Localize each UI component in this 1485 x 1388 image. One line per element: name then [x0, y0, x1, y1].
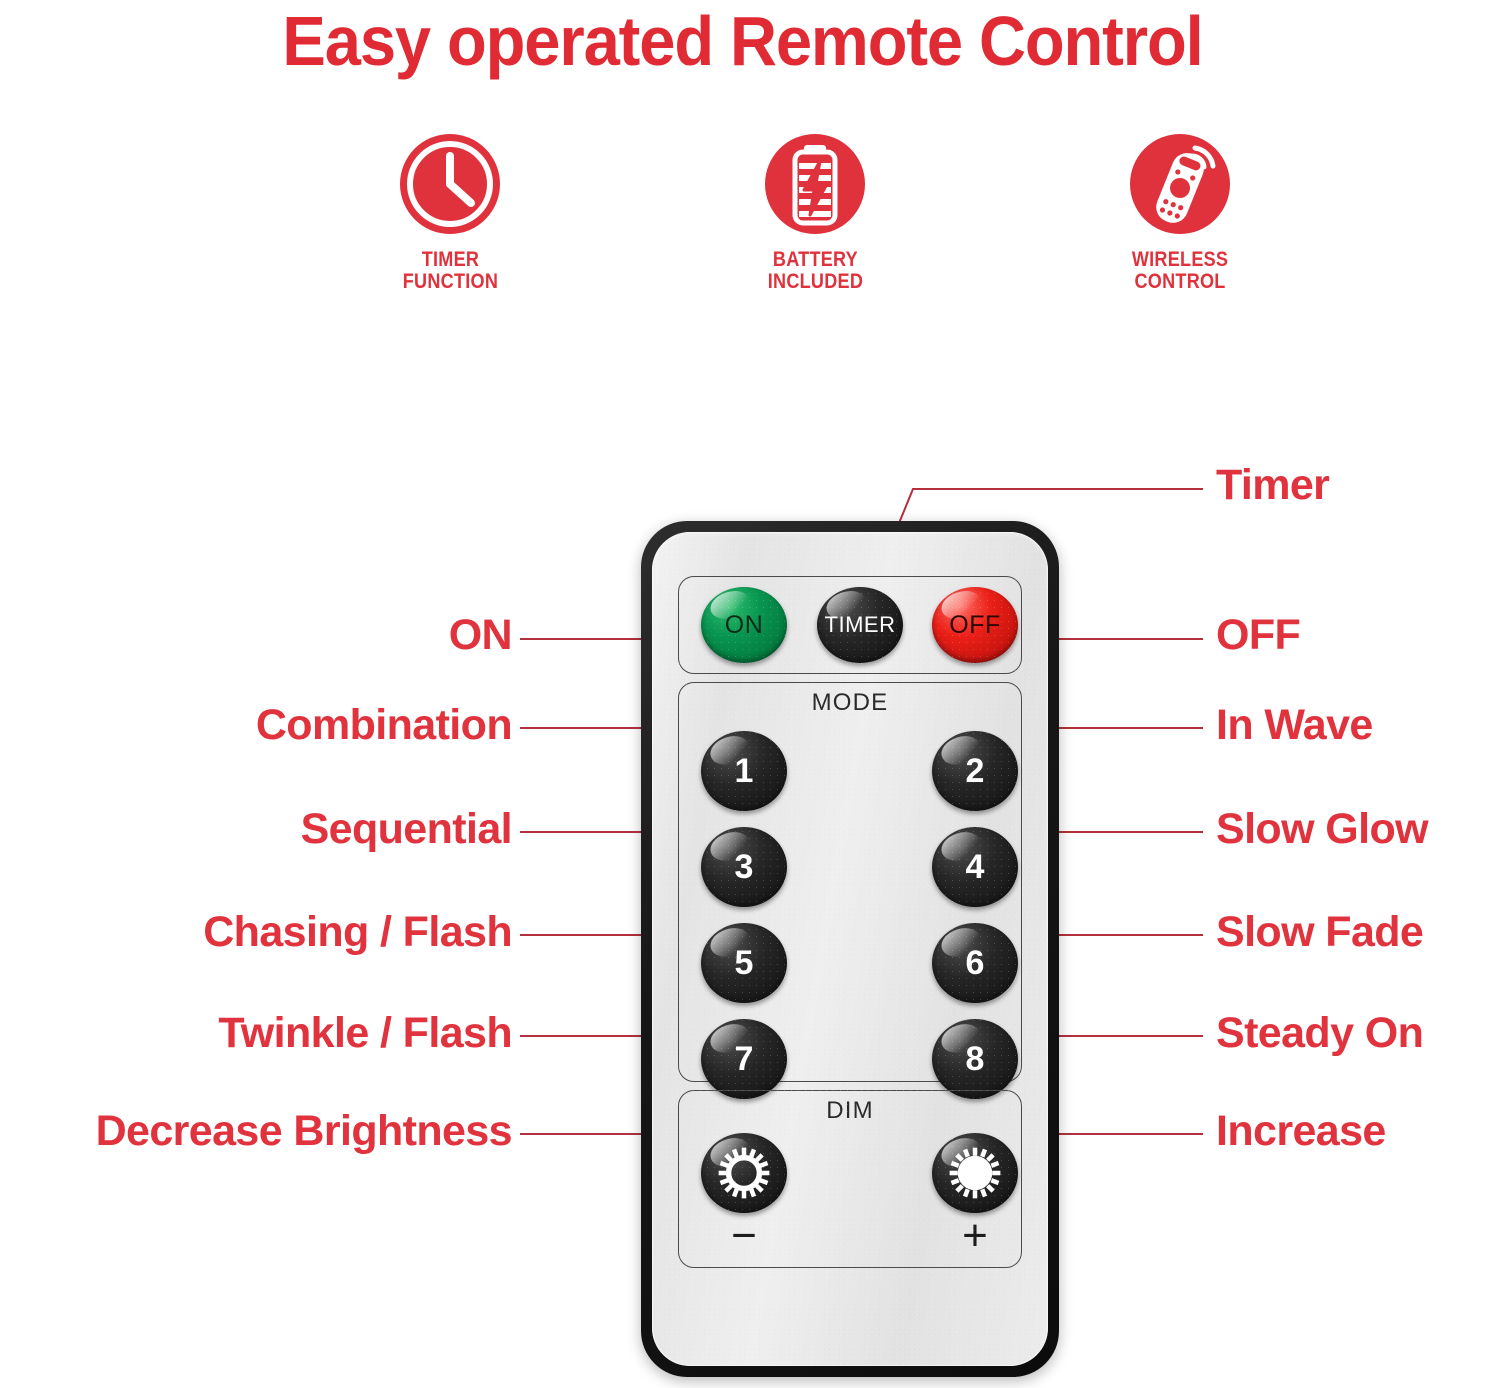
mode-button-4[interactable]: 4 — [932, 827, 1018, 907]
dim-up-sign: + — [945, 1219, 1005, 1253]
dim-group-label: DIM — [679, 1097, 1021, 1125]
mode-button-5-label: 5 — [735, 944, 754, 983]
callout-on: ON — [300, 612, 512, 658]
off-button-label: OFF — [949, 611, 1001, 640]
mode-button-2[interactable]: 2 — [932, 731, 1018, 811]
remote-control-device: ON TIMER OFF MODE 1 — [641, 521, 1059, 1377]
mode-button-3-label: 3 — [735, 848, 754, 887]
callout-steady-on: Steady On — [1216, 1010, 1423, 1056]
mode-button-5[interactable]: 5 — [701, 923, 787, 1003]
mode-button-1-label: 1 — [735, 752, 754, 791]
mode-button-6-label: 6 — [966, 944, 985, 983]
product-infographic: Easy operated Remote Control TIMER FUNCT… — [0, 0, 1485, 1388]
mode-group-label: MODE — [679, 689, 1021, 717]
callout-sequential: Sequential — [150, 806, 512, 852]
mode-button-2-label: 2 — [966, 752, 985, 791]
mode-button-1[interactable]: 1 — [701, 731, 787, 811]
on-button[interactable]: ON — [701, 587, 787, 663]
callout-in-wave: In Wave — [1216, 702, 1373, 748]
remote-faceplate: ON TIMER OFF MODE 1 — [652, 532, 1048, 1366]
brightness-low-icon — [715, 1144, 773, 1202]
mode-button-6[interactable]: 6 — [932, 923, 1018, 1003]
callout-combination: Combination — [150, 702, 512, 748]
callout-increase: Increase — [1216, 1108, 1386, 1154]
mode-button-8[interactable]: 8 — [932, 1019, 1018, 1099]
callout-slow-fade: Slow Fade — [1216, 909, 1423, 955]
mode-button-3[interactable]: 3 — [701, 827, 787, 907]
timer-button-label: TIMER — [825, 612, 896, 638]
mode-button-7[interactable]: 7 — [701, 1019, 787, 1099]
callout-chasing-flash: Chasing / Flash — [130, 909, 512, 955]
callout-decrease-brightness: Decrease Brightness — [12, 1108, 512, 1154]
on-button-label: ON — [725, 611, 764, 640]
timer-button[interactable]: TIMER — [817, 587, 903, 663]
callout-twinkle-flash: Twinkle / Flash — [130, 1010, 512, 1056]
mode-button-group: MODE 1 2 3 4 — [678, 682, 1022, 1082]
power-button-group: ON TIMER OFF — [678, 576, 1022, 674]
mode-button-4-label: 4 — [966, 848, 985, 887]
dim-down-button[interactable] — [701, 1133, 787, 1213]
mode-button-8-label: 8 — [966, 1040, 985, 1079]
brightness-high-icon — [946, 1144, 1004, 1202]
dim-down-sign: − — [714, 1219, 774, 1253]
callout-off: OFF — [1216, 612, 1300, 658]
dim-button-group: DIM — [678, 1090, 1022, 1268]
dim-up-button[interactable] — [932, 1133, 1018, 1213]
off-button[interactable]: OFF — [932, 587, 1018, 663]
callout-timer: Timer — [1216, 462, 1329, 508]
mode-button-7-label: 7 — [735, 1040, 754, 1079]
callout-slow-glow: Slow Glow — [1216, 806, 1428, 852]
